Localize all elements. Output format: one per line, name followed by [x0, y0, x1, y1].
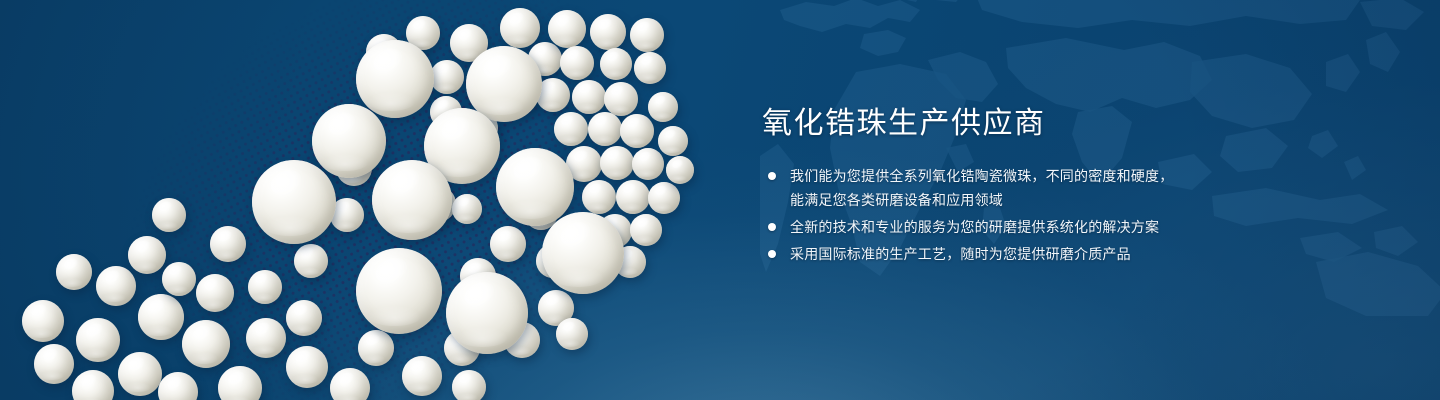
bead — [490, 226, 526, 262]
bead — [604, 82, 638, 116]
banner-copy: 氧化锆珠生产供应商 我们能为您提供全系列氧化锆陶瓷微珠，不同的密度和硬度， 能满… — [762, 104, 1222, 269]
list-item-line: 全新的技术和专业的服务为您的研磨提供系统化的解决方案 — [790, 219, 1159, 235]
list-item-line: 我们能为您提供全系列氧化锆陶瓷微珠，不同的密度和硬度， — [790, 168, 1173, 184]
bead-large — [356, 40, 434, 118]
bead — [666, 156, 694, 184]
bead — [152, 198, 186, 232]
bead — [556, 318, 588, 350]
list-item-line: 能满足您各类研磨设备和应用领域 — [790, 188, 1222, 212]
bead — [630, 18, 664, 52]
list-item-text: 我们能为您提供全系列氧化锆陶瓷微珠，不同的密度和硬度， 能满足您各类研磨设备和应… — [790, 164, 1222, 212]
bead — [22, 300, 64, 342]
bead — [128, 236, 166, 274]
bead — [582, 180, 616, 214]
bead — [648, 92, 678, 122]
bead — [634, 52, 666, 84]
list-item-line: 采用国际标准的生产工艺，随时为您提供研磨介质产品 — [790, 246, 1131, 262]
bead — [588, 112, 622, 146]
bead — [630, 214, 662, 246]
bead — [76, 318, 120, 362]
bead-large — [542, 212, 624, 294]
bead-large — [312, 104, 386, 178]
bead — [554, 112, 588, 146]
bead — [210, 226, 246, 262]
bead — [452, 194, 482, 224]
bead — [600, 48, 632, 80]
bead — [358, 330, 394, 366]
bead — [118, 352, 162, 396]
bead — [452, 370, 486, 400]
bead — [96, 266, 136, 306]
bead — [572, 80, 606, 114]
bead — [138, 294, 184, 340]
list-item: 采用国际标准的生产工艺，随时为您提供研磨介质产品 — [762, 242, 1222, 266]
bead — [648, 182, 680, 214]
bead — [56, 254, 92, 290]
bead — [286, 300, 322, 336]
bead — [248, 270, 282, 304]
bead — [402, 356, 442, 396]
bead — [218, 366, 262, 400]
bead — [500, 8, 540, 48]
bead-large — [496, 148, 574, 226]
bead — [560, 46, 594, 80]
bead-large — [252, 160, 336, 244]
hero-banner: 氧化锆珠生产供应商 我们能为您提供全系列氧化锆陶瓷微珠，不同的密度和硬度， 能满… — [0, 0, 1440, 400]
list-item: 我们能为您提供全系列氧化锆陶瓷微珠，不同的密度和硬度， 能满足您各类研磨设备和应… — [762, 164, 1222, 212]
bead-large — [446, 272, 528, 354]
bead — [600, 146, 634, 180]
bead — [616, 180, 650, 214]
page-title: 氧化锆珠生产供应商 — [762, 104, 1222, 144]
bullet-dot-icon — [768, 172, 776, 180]
bullet-dot-icon — [768, 223, 776, 231]
bead — [620, 114, 654, 148]
bead — [548, 10, 586, 48]
bead-large — [372, 160, 452, 240]
zirconia-beads-image — [0, 0, 760, 400]
bead-large — [356, 248, 442, 334]
bead — [158, 372, 198, 400]
bead — [246, 318, 286, 358]
bead — [294, 244, 328, 278]
bead — [196, 274, 234, 312]
bullet-dot-icon — [768, 250, 776, 258]
bead — [72, 370, 114, 400]
bead — [182, 320, 230, 368]
bead — [590, 14, 626, 50]
bead — [162, 262, 196, 296]
bead — [34, 344, 74, 384]
bead — [286, 346, 328, 388]
bead — [632, 148, 664, 180]
bead — [658, 126, 688, 156]
list-item-text: 全新的技术和专业的服务为您的研磨提供系统化的解决方案 — [790, 215, 1222, 239]
bead — [330, 368, 370, 400]
list-item: 全新的技术和专业的服务为您的研磨提供系统化的解决方案 — [762, 215, 1222, 239]
bead — [430, 60, 464, 94]
feature-bullet-list: 我们能为您提供全系列氧化锆陶瓷微珠，不同的密度和硬度， 能满足您各类研磨设备和应… — [762, 164, 1222, 266]
list-item-text: 采用国际标准的生产工艺，随时为您提供研磨介质产品 — [790, 242, 1222, 266]
